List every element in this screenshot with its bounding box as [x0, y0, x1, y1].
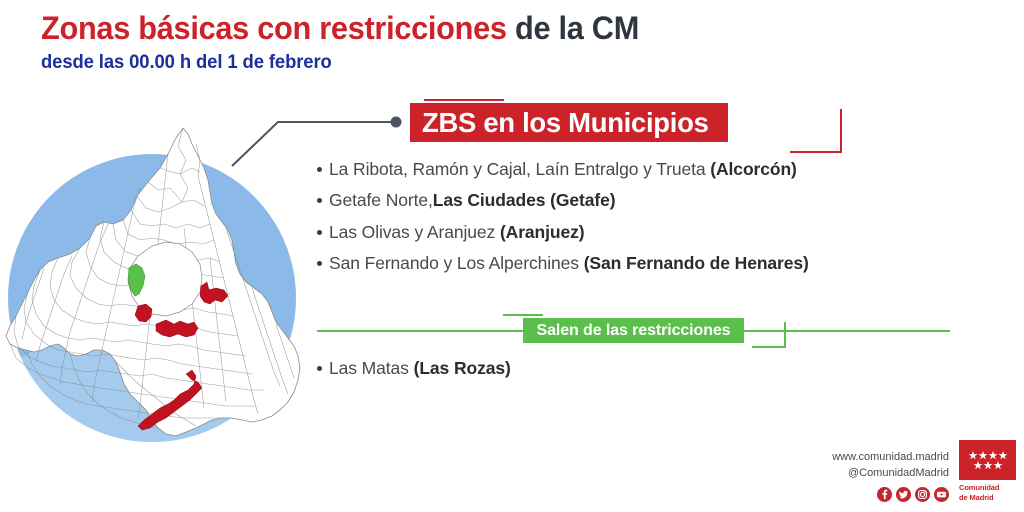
list-item: Las Olivas y Aranjuez (Aranjuez): [317, 223, 917, 242]
zbs-municipios-banner: ZBS en los Municipios: [410, 103, 728, 142]
youtube-icon[interactable]: [934, 487, 949, 502]
list-item-plain: La Ribota, Ramón y Cajal, Laín Entralgo …: [329, 159, 710, 179]
page-subtitle: desde las 00.00 h del 1 de febrero: [41, 52, 645, 74]
list-item-plain: Las Olivas y Aranjuez: [329, 222, 500, 242]
logo-caption-line2: de Madrid: [959, 493, 1016, 502]
released-zones-list: Las Matas (Las Rozas): [317, 355, 917, 390]
list-item-plain: San Fernando y Los Alperchines: [329, 253, 584, 273]
list-item-bold: (San Fernando de Henares): [584, 253, 809, 273]
list-item-plain: Getafe Norte,: [329, 190, 433, 210]
instagram-icon[interactable]: [915, 487, 930, 502]
salen-chip-label: Salen de las restricciones: [537, 323, 731, 339]
bullet-icon: [317, 198, 322, 203]
bullet-icon: [317, 261, 322, 266]
list-item-text: Getafe Norte,Las Ciudades (Getafe): [329, 191, 615, 210]
list-item-text: Las Olivas y Aranjuez (Aranjuez): [329, 223, 585, 242]
footer-text-block: www.comunidad.madrid @ComunidadMadrid: [832, 450, 949, 502]
salen-divider: Salen de las restricciones: [317, 316, 950, 346]
zbs-banner-label: ZBS en los Municipios: [422, 109, 709, 137]
list-item-text: La Ribota, Ramón y Cajal, Laín Entralgo …: [329, 160, 797, 179]
social-links: [832, 487, 949, 502]
footer-website[interactable]: www.comunidad.madrid: [832, 450, 949, 466]
page-title-red: Zonas básicas con restricciones: [41, 10, 507, 46]
zbs-bracket-top: [424, 99, 504, 101]
list-item: San Fernando y Los Alperchines (San Fern…: [317, 254, 917, 273]
list-item-bold: (Las Rozas): [414, 358, 511, 378]
footer: www.comunidad.madrid @ComunidadMadrid: [832, 440, 1016, 502]
bullet-icon: [317, 167, 322, 172]
list-item-text: San Fernando y Los Alperchines (San Fern…: [329, 254, 809, 273]
salen-chip: Salen de las restricciones: [523, 318, 745, 343]
leader-endpoint-dot: [391, 117, 402, 128]
list-item-text: Las Matas (Las Rozas): [329, 359, 511, 378]
header: Zonas básicas con restricciones de la CM…: [41, 12, 664, 74]
facebook-icon[interactable]: [877, 487, 892, 502]
logo-caption: Comunidad de Madrid: [959, 483, 1016, 502]
list-item: Getafe Norte,Las Ciudades (Getafe): [317, 191, 917, 210]
infographic-root: Zonas básicas con restricciones de la CM…: [0, 0, 1024, 512]
list-item-bold: (Alcorcón): [710, 159, 797, 179]
salen-bracket-bottom: [752, 346, 786, 348]
seven-stars-icon: [968, 449, 1008, 471]
restricted-zones-list: La Ribota, Ramón y Cajal, Laín Entralgo …: [317, 160, 917, 285]
list-item-bold: (Aranjuez): [500, 222, 585, 242]
zbs-bracket-right: [840, 109, 842, 153]
list-item-plain: Las Matas: [329, 358, 414, 378]
map-zone-getafe: [156, 320, 198, 337]
page-title: Zonas básicas con restricciones de la CM: [41, 12, 639, 46]
comunidad-madrid-logo: Comunidad de Madrid: [959, 440, 1016, 502]
page-title-dark: de la CM: [507, 10, 639, 46]
footer-handle[interactable]: @ComunidadMadrid: [832, 466, 949, 482]
twitter-icon[interactable]: [896, 487, 911, 502]
logo-caption-line1: Comunidad: [959, 483, 1016, 492]
bullet-icon: [317, 366, 322, 371]
list-item: Las Matas (Las Rozas): [317, 359, 917, 378]
logo-stars-square: [959, 440, 1016, 480]
zbs-bracket-bottom: [790, 151, 842, 153]
list-item-bold: Las Ciudades (Getafe): [433, 190, 616, 210]
salen-bracket-right: [784, 322, 786, 348]
bullet-icon: [317, 230, 322, 235]
list-item: La Ribota, Ramón y Cajal, Laín Entralgo …: [317, 160, 917, 179]
salen-bracket-top: [503, 314, 543, 316]
